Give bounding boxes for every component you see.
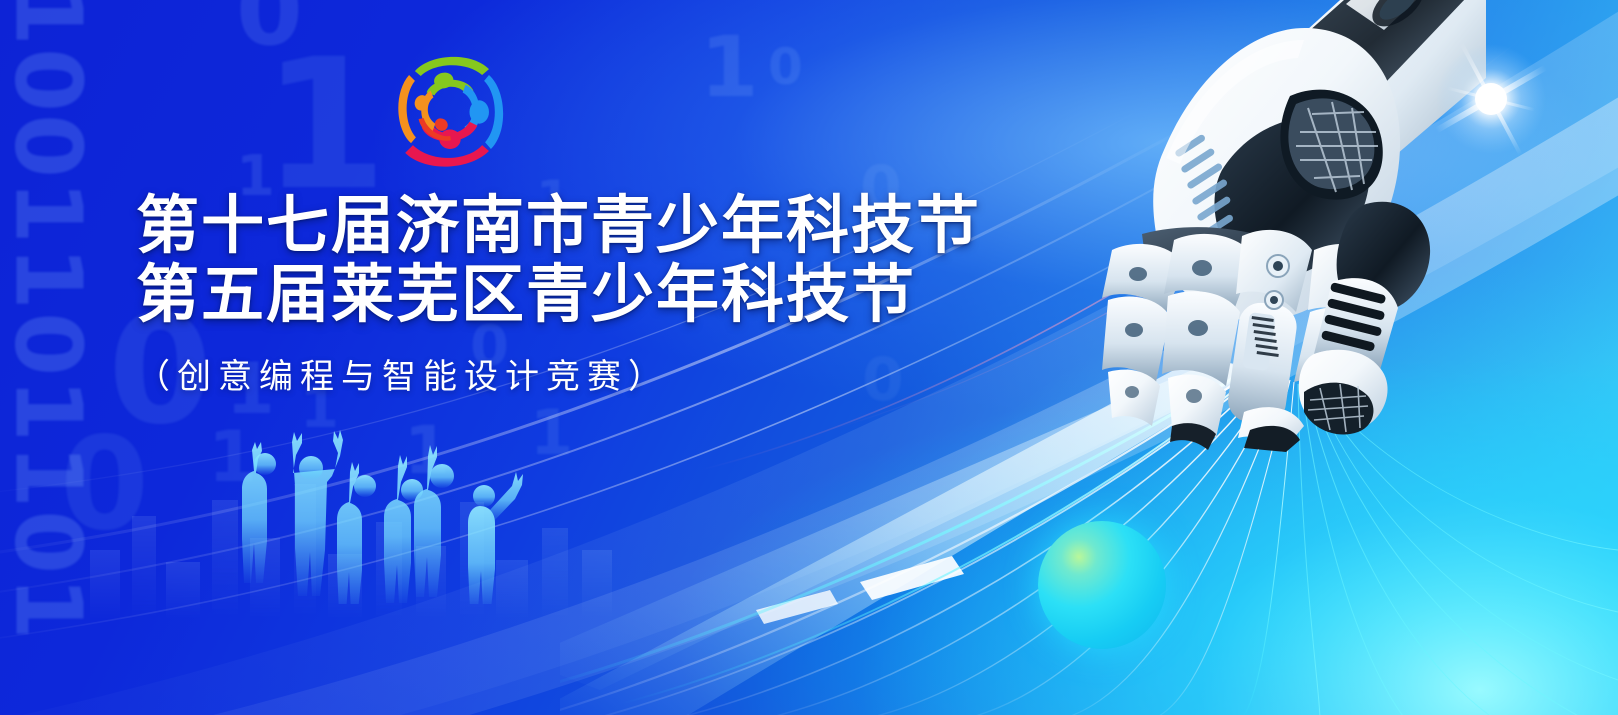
- binary-digit: 0: [236, 0, 303, 57]
- cheering-crowd-silhouette: [222, 414, 532, 604]
- crimson-figure: [405, 122, 489, 167]
- binary-digit: 0: [768, 44, 803, 92]
- robotic-hand: [1046, 0, 1486, 452]
- binary-digit: 1: [700, 28, 758, 108]
- science-festival-banner: 1001101101 0 1 1 0 1 1 0 1 1 0 1 1 0 0 0…: [0, 0, 1618, 715]
- title-line-1: 第十七届济南市青少年科技节: [136, 192, 981, 261]
- glowing-cyan-sphere: [1038, 521, 1166, 649]
- title-line-2: 第五届莱芜区青少年科技节: [136, 261, 981, 330]
- youth-science-festival-emblem: [372, 36, 528, 188]
- binary-column: 1001101101: [4, 0, 91, 642]
- green-figure: [415, 57, 489, 96]
- binary-digit: 1: [262, 40, 387, 211]
